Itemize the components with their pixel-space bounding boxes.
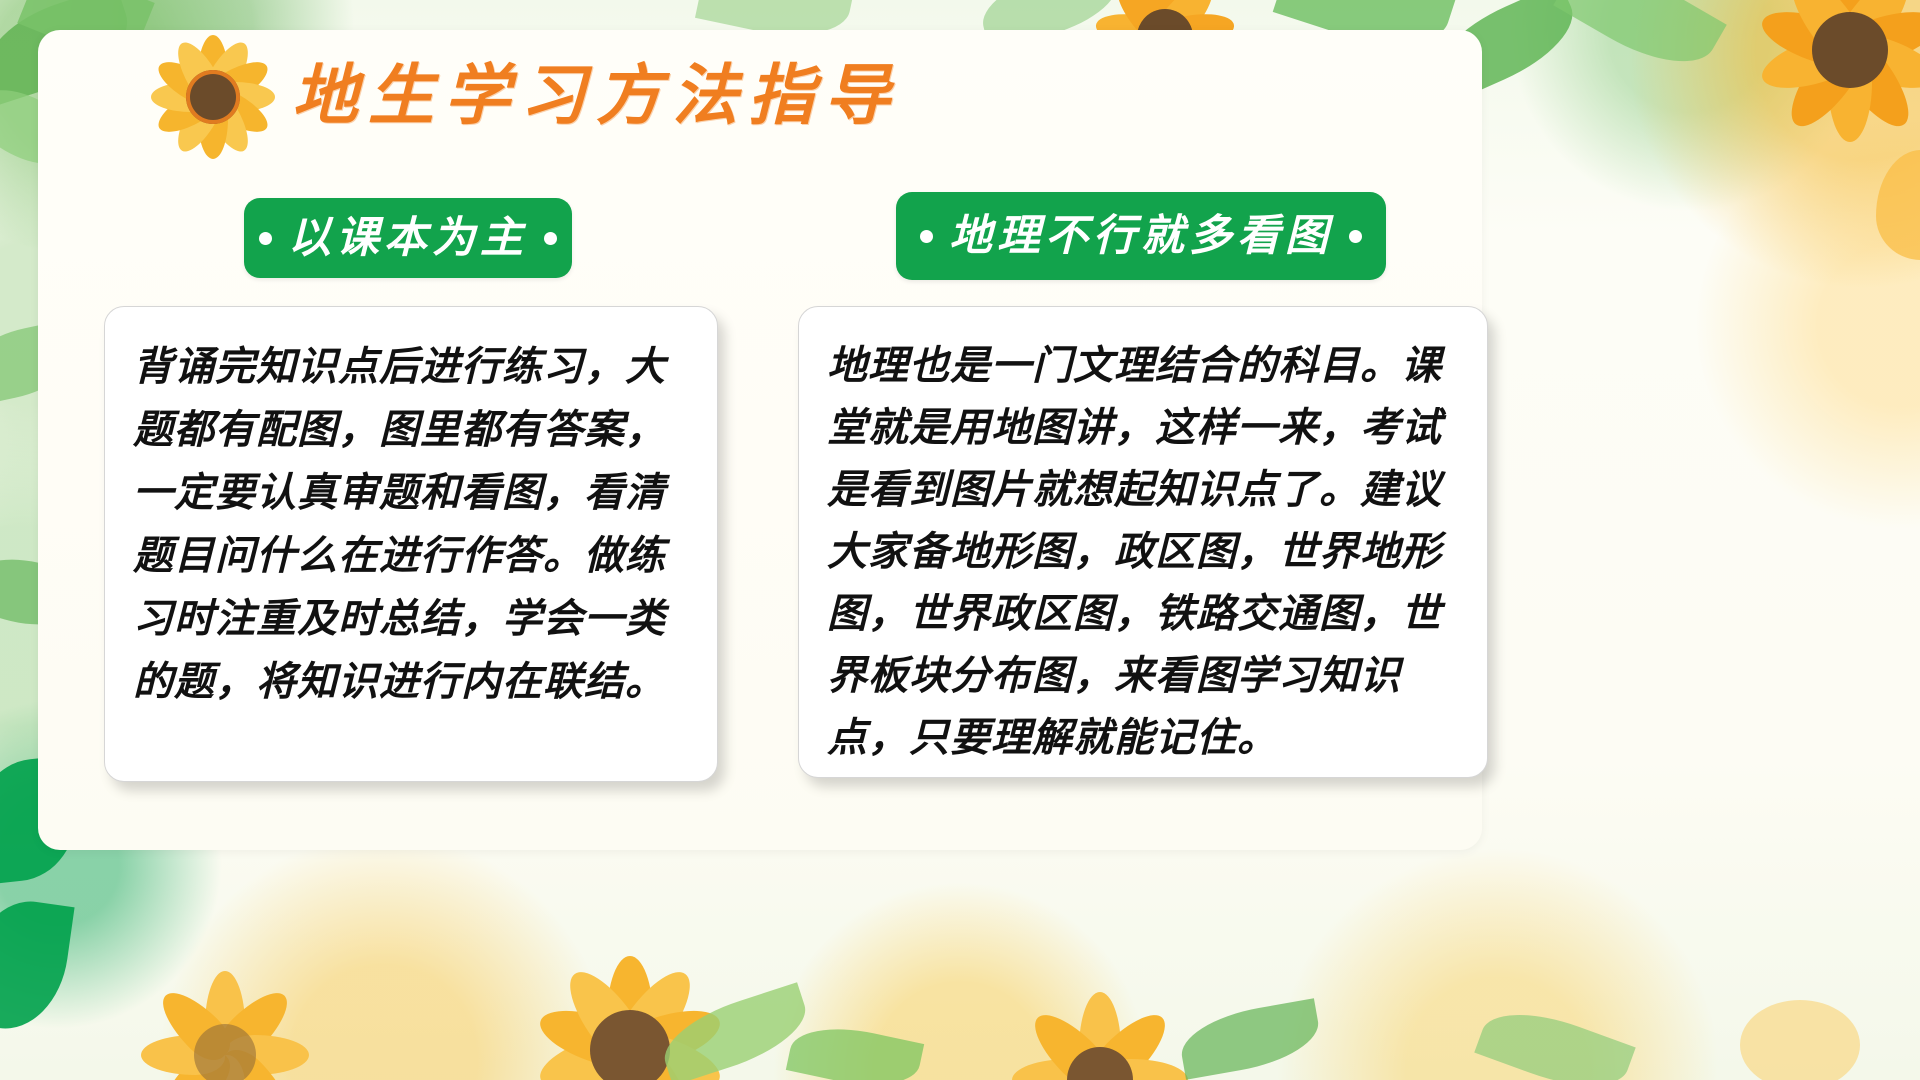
bullet-dot-icon xyxy=(544,232,557,245)
sunflower-icon xyxy=(148,32,278,162)
card-body-text: 地理也是一门文理结合的科目。课堂就是用地图讲，这样一来，考试是看到图片就想起知识… xyxy=(827,335,1467,769)
sunflower-icon xyxy=(130,960,320,1080)
sunflower-icon xyxy=(1000,980,1200,1080)
content-card-maps: 地理也是一门文理结合的科目。课堂就是用地图讲，这样一来，考试是看到图片就想起知识… xyxy=(798,306,1488,778)
section-badge-textbook[interactable]: 以课本为主 xyxy=(244,198,572,278)
sunflower-icon xyxy=(1740,0,1920,160)
bullet-dot-icon xyxy=(1349,230,1362,243)
bullet-dot-icon xyxy=(259,232,272,245)
badge-label: 地理不行就多看图 xyxy=(949,215,1333,258)
content-card-textbook: 背诵完知识点后进行练习，大题都有配图，图里都有答案，一定要认真审题和看图，看清题… xyxy=(104,306,718,782)
slide-title-row: 地生学习方法指导 xyxy=(148,32,900,162)
card-body-text: 背诵完知识点后进行练习，大题都有配图，图里都有答案，一定要认真审题和看图，看清题… xyxy=(133,335,697,713)
bullet-dot-icon xyxy=(920,230,933,243)
section-badge-maps[interactable]: 地理不行就多看图 xyxy=(896,192,1386,280)
badge-label: 以课本为主 xyxy=(288,217,528,260)
petal-decoration xyxy=(1740,1000,1860,1080)
page-title: 地生学习方法指导 xyxy=(292,64,900,130)
slide-canvas: 地生学习方法指导 以课本为主 地理不行就多看图 背诵完知识点后进行练习，大题都有… xyxy=(0,0,1920,1080)
